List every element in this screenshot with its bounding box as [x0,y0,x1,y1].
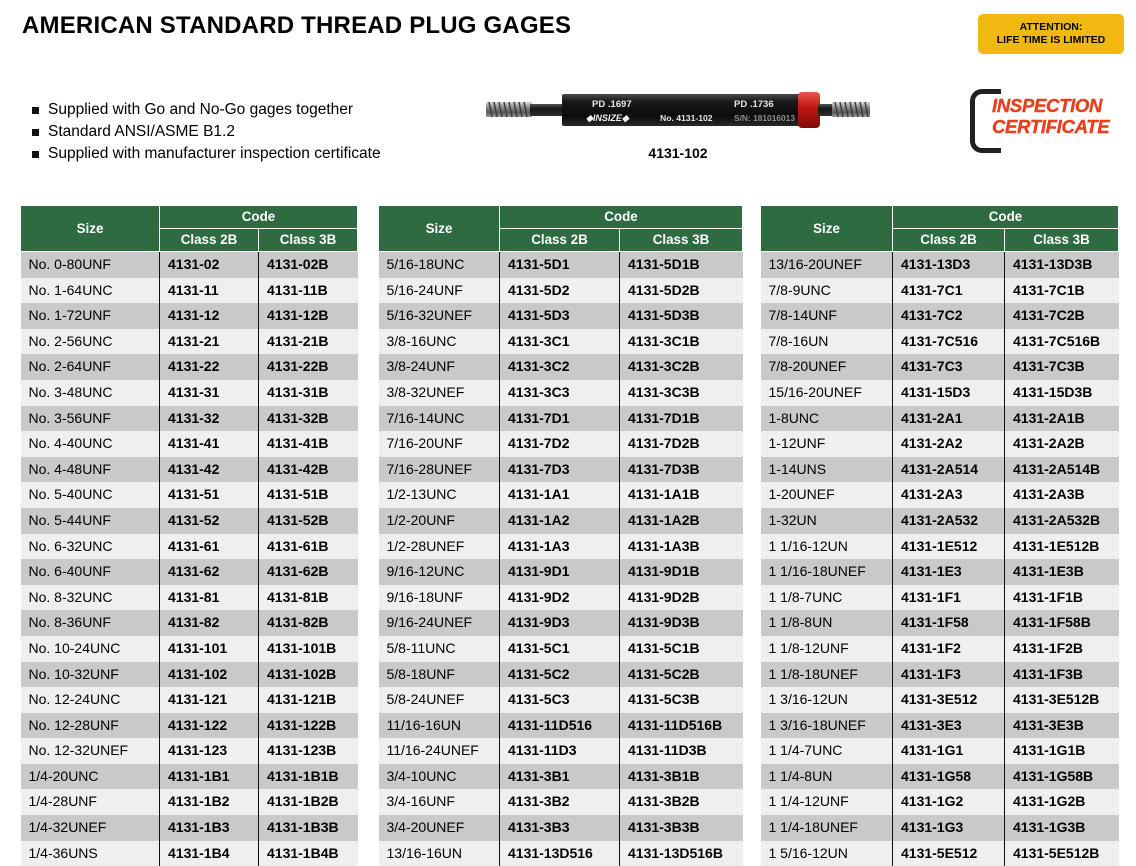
bullet-square-icon [32,151,39,158]
table-row: 1/4-28UNF4131-1B24131-1B2B [21,789,358,815]
cell-size: 7/8-14UNF [761,303,893,329]
col-header-size: Size [379,206,500,252]
cell-class-2b: 4131-5C1 [500,636,620,662]
cell-class-2b: 4131-3C3 [500,380,620,406]
table-row: No. 6-32UNC4131-614131-61B [21,534,358,560]
cell-class-3b: 4131-12B [259,303,358,329]
cell-class-3b: 4131-11D516B [620,713,743,739]
cell-class-3b: 4131-1A1B [620,482,743,508]
table-row: 5/8-18UNF4131-5C24131-5C2B [379,662,743,688]
table-row: No. 1-64UNC4131-114131-11B [21,278,358,304]
product-image: PD .1697 PD .1736 ◆INSIZE◆ No. 4131-102 … [482,78,874,140]
cell-class-3b: 4131-9D2B [620,585,743,611]
col-header-code: Code [500,206,743,229]
table-row: 1-32UN4131-2A5324131-2A532B [761,508,1119,534]
cell-class-2b: 4131-9D1 [500,559,620,585]
cell-class-3b: 4131-5E512B [1005,841,1119,866]
cell-size: 1-32UN [761,508,893,534]
cell-class-2b: 4131-02 [160,252,259,278]
cell-class-3b: 4131-3B2B [620,789,743,815]
cell-size: 1-14UNS [761,457,893,483]
cell-class-2b: 4131-5D1 [500,252,620,278]
cell-class-2b: 4131-52 [160,508,259,534]
cell-class-3b: 4131-2A532B [1005,508,1119,534]
cell-size: No. 2-56UNC [21,329,160,355]
cell-class-3b: 4131-1A3B [620,534,743,560]
cell-class-2b: 4131-1G3 [893,815,1005,841]
table-row: 5/8-11UNC4131-5C14131-5C1B [379,636,743,662]
table-row: 3/8-32UNEF4131-3C34131-3C3B [379,380,743,406]
cell-size: 1/2-28UNEF [379,534,500,560]
cell-class-2b: 4131-51 [160,482,259,508]
cell-class-2b: 4131-7C516 [893,329,1005,355]
cell-class-3b: 4131-7D3B [620,457,743,483]
cell-size: No. 1-72UNF [21,303,160,329]
table-row: 1 1/16-18UNEF4131-1E34131-1E3B [761,559,1119,585]
cell-class-3b: 4131-5C3B [620,687,743,713]
cell-size: 7/8-20UNEF [761,354,893,380]
cell-size: 1/2-20UNF [379,508,500,534]
table-row: 1-14UNS4131-2A5144131-2A514B [761,457,1119,483]
table-row: 1 1/8-8UN4131-1F584131-1F58B [761,610,1119,636]
cell-size: 1/2-13UNC [379,482,500,508]
cell-class-2b: 4131-1G1 [893,738,1005,764]
cell-class-3b: 4131-121B [259,687,358,713]
cell-class-3b: 4131-15D3B [1005,380,1119,406]
table-row: 9/16-12UNC4131-9D14131-9D1B [379,559,743,585]
cell-class-2b: 4131-82 [160,610,259,636]
cell-size: 3/4-16UNF [379,789,500,815]
cell-class-3b: 4131-1B3B [259,815,358,841]
inspection-line-2: CERTIFICATE [992,116,1109,137]
inspection-line-1: INSPECTION [992,95,1109,116]
cell-class-3b: 4131-1B4B [259,841,358,866]
cell-class-2b: 4131-13D516 [500,841,620,866]
bullet-square-icon [32,129,39,136]
cell-class-3b: 4131-11B [259,278,358,304]
cell-class-3b: 4131-5D3B [620,303,743,329]
cell-class-2b: 4131-1G58 [893,764,1005,790]
cell-class-3b: 4131-9D1B [620,559,743,585]
cell-class-3b: 4131-13D516B [620,841,743,866]
cell-size: 1 3/16-18UNEF [761,713,893,739]
cell-class-2b: 4131-1A2 [500,508,620,534]
cell-class-2b: 4131-7C1 [893,278,1005,304]
cell-size: 1 1/8-8UN [761,610,893,636]
cell-class-2b: 4131-2A532 [893,508,1005,534]
cell-size: No. 0-80UNF [21,252,160,278]
cell-class-3b: 4131-3C2B [620,354,743,380]
cell-size: 9/16-18UNF [379,585,500,611]
table-row: 5/16-18UNC4131-5D14131-5D1B [379,252,743,278]
table-row: 9/16-24UNEF4131-9D34131-9D3B [379,610,743,636]
cell-size: 1 1/16-18UNEF [761,559,893,585]
table-row: 1/4-32UNEF4131-1B34131-1B3B [21,815,358,841]
cell-class-3b: 4131-7C1B [1005,278,1119,304]
bullet-square-icon [32,107,39,114]
cell-class-2b: 4131-102 [160,662,259,688]
cell-class-2b: 4131-5C2 [500,662,620,688]
cell-class-2b: 4131-2A3 [893,482,1005,508]
cell-class-2b: 4131-1A3 [500,534,620,560]
cell-class-2b: 4131-123 [160,738,259,764]
col-header-class-2b: Class 2B [893,229,1005,252]
cell-class-2b: 4131-41 [160,431,259,457]
cell-class-3b: 4131-1G1B [1005,738,1119,764]
table-row: 7/16-28UNEF4131-7D34131-7D3B [379,457,743,483]
cell-size: No. 3-48UNC [21,380,160,406]
cell-size: 1 1/8-12UNF [761,636,893,662]
cell-class-2b: 4131-7C3 [893,354,1005,380]
cell-size: 1 3/16-12UN [761,687,893,713]
cell-size: 1-20UNEF [761,482,893,508]
cell-size: 5/8-11UNC [379,636,500,662]
cell-class-3b: 4131-81B [259,585,358,611]
cell-size: No. 8-32UNC [21,585,160,611]
cell-class-2b: 4131-2A1 [893,406,1005,432]
cell-class-3b: 4131-7D2B [620,431,743,457]
table-row: 1 1/16-12UN4131-1E5124131-1E512B [761,534,1119,560]
cell-size: No. 6-32UNC [21,534,160,560]
cell-size: 5/8-24UNEF [379,687,500,713]
cell-class-3b: 4131-123B [259,738,358,764]
cell-class-2b: 4131-3B2 [500,789,620,815]
cell-class-3b: 4131-1F2B [1005,636,1119,662]
cell-class-2b: 4131-7C2 [893,303,1005,329]
page-root: AMERICAN STANDARD THREAD PLUG GAGES Supp… [0,0,1136,846]
cell-class-2b: 4131-42 [160,457,259,483]
table-row: 1/4-20UNC4131-1B14131-1B1B [21,764,358,790]
cell-class-3b: 4131-2A3B [1005,482,1119,508]
cell-size: 1 5/16-12UN [761,841,893,866]
table-row: No. 2-56UNC4131-214131-21B [21,329,358,355]
cell-class-2b: 4131-62 [160,559,259,585]
table-row: 9/16-18UNF4131-9D24131-9D2B [379,585,743,611]
cell-class-2b: 4131-11D3 [500,738,620,764]
table-row: 1/2-28UNEF4131-1A34131-1A3B [379,534,743,560]
cell-class-3b: 4131-1E3B [1005,559,1119,585]
cell-class-2b: 4131-1B2 [160,789,259,815]
cell-class-2b: 4131-7D3 [500,457,620,483]
cell-size: 1/4-28UNF [21,789,160,815]
col-header-code: Code [893,206,1119,229]
cell-class-3b: 4131-2A2B [1005,431,1119,457]
cell-class-2b: 4131-61 [160,534,259,560]
cell-class-2b: 4131-13D3 [893,252,1005,278]
table-row: 5/8-24UNEF4131-5C34131-5C3B [379,687,743,713]
svg-text:No. 4131-102: No. 4131-102 [660,113,713,123]
cell-class-3b: 4131-3B1B [620,764,743,790]
cell-class-2b: 4131-21 [160,329,259,355]
cell-class-2b: 4131-11D516 [500,713,620,739]
cell-class-3b: 4131-1G2B [1005,789,1119,815]
cell-class-3b: 4131-11D3B [620,738,743,764]
cell-size: 7/16-20UNF [379,431,500,457]
svg-text:PD .1697: PD .1697 [592,99,632,110]
cell-class-2b: 4131-5E512 [893,841,1005,866]
cell-class-2b: 4131-9D2 [500,585,620,611]
cell-size: 1 1/8-18UNEF [761,662,893,688]
table-row: 7/16-20UNF4131-7D24131-7D2B [379,431,743,457]
cell-class-3b: 4131-3E3B [1005,713,1119,739]
cell-class-3b: 4131-42B [259,457,358,483]
table-row: No. 5-40UNC4131-514131-51B [21,482,358,508]
cell-class-2b: 4131-12 [160,303,259,329]
col-header-size: Size [761,206,893,252]
cell-class-3b: 4131-122B [259,713,358,739]
table-row: 15/16-20UNEF4131-15D34131-15D3B [761,380,1119,406]
table-row: No. 1-72UNF4131-124131-12B [21,303,358,329]
cell-size: 1 1/4-7UNC [761,738,893,764]
cell-size: No. 1-64UNC [21,278,160,304]
cell-class-3b: 4131-1F1B [1005,585,1119,611]
svg-text:◆INSIZE◆: ◆INSIZE◆ [586,113,630,123]
cell-class-2b: 4131-1B1 [160,764,259,790]
cell-size: No. 2-64UNF [21,354,160,380]
cell-class-3b: 4131-3C1B [620,329,743,355]
cell-size: 3/8-24UNF [379,354,500,380]
cell-size: 1/4-32UNEF [21,815,160,841]
cell-class-2b: 4131-1B4 [160,841,259,866]
cell-size: No. 5-40UNC [21,482,160,508]
col-header-class-2b: Class 2B [500,229,620,252]
cell-class-3b: 4131-02B [259,252,358,278]
cell-class-2b: 4131-7D2 [500,431,620,457]
cell-size: No. 12-32UNEF [21,738,160,764]
table-row: 1 1/4-8UN4131-1G584131-1G58B [761,764,1119,790]
cell-size: 9/16-12UNC [379,559,500,585]
cell-class-3b: 4131-31B [259,380,358,406]
table-row: 1 3/16-12UN4131-3E5124131-3E512B [761,687,1119,713]
table-row: 3/8-16UNC4131-3C14131-3C1B [379,329,743,355]
table-row: No. 0-80UNF4131-024131-02B [21,252,358,278]
table-row: No. 2-64UNF4131-224131-22B [21,354,358,380]
table-row: 1-20UNEF4131-2A34131-2A3B [761,482,1119,508]
cell-size: No. 3-56UNF [21,406,160,432]
cell-size: 3/4-20UNEF [379,815,500,841]
feature-text: Standard ANSI/ASME B1.2 [48,122,235,142]
table-row: No. 10-24UNC4131-1014131-101B [21,636,358,662]
cell-class-2b: 4131-32 [160,406,259,432]
gage-code-table-2: SizeCodeClass 2BClass 3B5/16-18UNC4131-5… [378,205,743,866]
cell-class-3b: 4131-82B [259,610,358,636]
table-row: 7/8-14UNF4131-7C24131-7C2B [761,303,1119,329]
table-row: 1 1/8-12UNF4131-1F24131-1F2B [761,636,1119,662]
table-row: 1-12UNF4131-2A24131-2A2B [761,431,1119,457]
cell-size: No. 4-40UNC [21,431,160,457]
feature-list: Supplied with Go and No-Go gages togethe… [32,100,381,166]
cell-size: No. 10-24UNC [21,636,160,662]
cell-size: 1/4-20UNC [21,764,160,790]
cell-class-3b: 4131-3E512B [1005,687,1119,713]
cell-class-3b: 4131-21B [259,329,358,355]
cell-size: 7/8-9UNC [761,278,893,304]
attention-line-1: ATTENTION: [1020,21,1083,34]
cell-class-3b: 4131-9D3B [620,610,743,636]
cell-class-2b: 4131-31 [160,380,259,406]
table-row: 3/8-24UNF4131-3C24131-3C2B [379,354,743,380]
cell-class-3b: 4131-5C1B [620,636,743,662]
cell-class-3b: 4131-13D3B [1005,252,1119,278]
table-row: No. 3-56UNF4131-324131-32B [21,406,358,432]
cell-class-2b: 4131-9D3 [500,610,620,636]
cell-class-3b: 4131-5C2B [620,662,743,688]
cell-class-3b: 4131-32B [259,406,358,432]
cell-class-3b: 4131-52B [259,508,358,534]
col-header-class-2b: Class 2B [160,229,259,252]
page-title: AMERICAN STANDARD THREAD PLUG GAGES [22,12,571,40]
cell-class-3b: 4131-1F58B [1005,610,1119,636]
cell-class-3b: 4131-41B [259,431,358,457]
cell-class-3b: 4131-102B [259,662,358,688]
cell-class-3b: 4131-3B3B [620,815,743,841]
table-row: No. 3-48UNC4131-314131-31B [21,380,358,406]
table-row: 5/16-24UNF4131-5D24131-5D2B [379,278,743,304]
cell-size: 13/16-16UN [379,841,500,866]
table-row: 1-8UNC4131-2A14131-2A1B [761,406,1119,432]
cell-class-2b: 4131-121 [160,687,259,713]
cell-class-2b: 4131-22 [160,354,259,380]
col-header-size: Size [21,206,160,252]
cell-size: 1/4-36UNS [21,841,160,866]
cell-class-2b: 4131-1A1 [500,482,620,508]
cell-class-2b: 4131-5D3 [500,303,620,329]
cell-class-3b: 4131-1E512B [1005,534,1119,560]
attention-line-2: LIFE TIME IS LIMITED [997,34,1106,47]
cell-size: 5/16-32UNEF [379,303,500,329]
col-header-code: Code [160,206,358,229]
gage-code-table-1: SizeCodeClass 2BClass 3BNo. 0-80UNF4131-… [20,205,358,866]
cell-class-2b: 4131-122 [160,713,259,739]
cell-class-2b: 4131-7D1 [500,406,620,432]
svg-text:PD .1736: PD .1736 [734,99,774,110]
table-row: 7/16-14UNC4131-7D14131-7D1B [379,406,743,432]
cell-size: No. 6-40UNF [21,559,160,585]
table-row: No. 8-32UNC4131-814131-81B [21,585,358,611]
table-row: 7/8-16UN4131-7C5164131-7C516B [761,329,1119,355]
cell-size: 7/16-14UNC [379,406,500,432]
cell-size: 11/16-24UNEF [379,738,500,764]
cell-class-3b: 4131-5D2B [620,278,743,304]
cell-class-2b: 4131-1F3 [893,662,1005,688]
cell-class-2b: 4131-101 [160,636,259,662]
cell-size: No. 4-48UNF [21,457,160,483]
cell-class-3b: 4131-1G58B [1005,764,1119,790]
table-row: 3/4-10UNC4131-3B14131-3B1B [379,764,743,790]
table-row: 13/16-16UN4131-13D5164131-13D516B [379,841,743,866]
table-row: 11/16-24UNEF4131-11D34131-11D3B [379,738,743,764]
cell-class-3b: 4131-7C516B [1005,329,1119,355]
cell-class-2b: 4131-1G2 [893,789,1005,815]
inspection-certificate-text: INSPECTION CERTIFICATE [992,95,1109,137]
cell-class-2b: 4131-3B1 [500,764,620,790]
cell-size: 1 1/4-12UNF [761,789,893,815]
cell-class-3b: 4131-1A2B [620,508,743,534]
table-row: 3/4-20UNEF4131-3B34131-3B3B [379,815,743,841]
cell-class-3b: 4131-7C2B [1005,303,1119,329]
table-row: 11/16-16UN4131-11D5164131-11D516B [379,713,743,739]
cell-size: 5/16-24UNF [379,278,500,304]
cell-size: 3/8-16UNC [379,329,500,355]
cell-size: 15/16-20UNEF [761,380,893,406]
cell-class-2b: 4131-2A514 [893,457,1005,483]
cell-class-2b: 4131-2A2 [893,431,1005,457]
cell-size: 1-12UNF [761,431,893,457]
table-row: 1 1/8-7UNC4131-1F14131-1F1B [761,585,1119,611]
cell-class-3b: 4131-7D1B [620,406,743,432]
cell-class-2b: 4131-5D2 [500,278,620,304]
cell-class-2b: 4131-11 [160,278,259,304]
product-code-label: 4131-102 [482,145,874,161]
cell-class-3b: 4131-1G3B [1005,815,1119,841]
cell-size: No. 10-32UNF [21,662,160,688]
list-item: Supplied with Go and No-Go gages togethe… [32,100,381,120]
cell-class-3b: 4131-61B [259,534,358,560]
cell-class-2b: 4131-1B3 [160,815,259,841]
cell-size: 1 1/4-8UN [761,764,893,790]
cell-size: 5/8-18UNF [379,662,500,688]
table-row: 1 1/4-18UNEF4131-1G34131-1G3B [761,815,1119,841]
inspection-certificate-badge: INSPECTION CERTIFICATE [970,85,1130,147]
cell-class-3b: 4131-101B [259,636,358,662]
cell-class-2b: 4131-1F1 [893,585,1005,611]
cell-class-3b: 4131-22B [259,354,358,380]
cell-size: 1-8UNC [761,406,893,432]
table-row: No. 6-40UNF4131-624131-62B [21,559,358,585]
cell-class-2b: 4131-3C1 [500,329,620,355]
cell-class-3b: 4131-1F3B [1005,662,1119,688]
cell-size: 13/16-20UNEF [761,252,893,278]
cell-class-3b: 4131-3C3B [620,380,743,406]
cell-size: 1 1/4-18UNEF [761,815,893,841]
cell-class-3b: 4131-51B [259,482,358,508]
cell-class-2b: 4131-1E3 [893,559,1005,585]
cell-class-2b: 4131-5C3 [500,687,620,713]
table-row: 7/8-9UNC4131-7C14131-7C1B [761,278,1119,304]
table-row: 1 3/16-18UNEF4131-3E34131-3E3B [761,713,1119,739]
cell-size: No. 8-36UNF [21,610,160,636]
svg-text:S/N: 181016013: S/N: 181016013 [734,113,795,123]
cell-size: 5/16-18UNC [379,252,500,278]
col-header-class-3b: Class 3B [259,229,358,252]
feature-text: Supplied with manufacturer inspection ce… [48,144,381,164]
table-row: 1 5/16-12UN4131-5E5124131-5E512B [761,841,1119,866]
cell-class-2b: 4131-3E512 [893,687,1005,713]
cell-class-3b: 4131-62B [259,559,358,585]
feature-text: Supplied with Go and No-Go gages togethe… [48,100,353,120]
table-row: No. 12-28UNF4131-1224131-122B [21,713,358,739]
cell-size: 9/16-24UNEF [379,610,500,636]
cell-class-2b: 4131-1F2 [893,636,1005,662]
cell-class-3b: 4131-7C3B [1005,354,1119,380]
cell-class-3b: 4131-2A1B [1005,406,1119,432]
cell-class-2b: 4131-81 [160,585,259,611]
table-row: 1 1/4-12UNF4131-1G24131-1G2B [761,789,1119,815]
cell-class-2b: 4131-15D3 [893,380,1005,406]
table-row: 1/4-36UNS4131-1B44131-1B4B [21,841,358,866]
cell-class-3b: 4131-1B2B [259,789,358,815]
cell-size: No. 12-24UNC [21,687,160,713]
cell-class-3b: 4131-5D1B [620,252,743,278]
cell-class-2b: 4131-3E3 [893,713,1005,739]
table-row: No. 4-40UNC4131-414131-41B [21,431,358,457]
col-header-class-3b: Class 3B [620,229,743,252]
table-row: 1 1/8-18UNEF4131-1F34131-1F3B [761,662,1119,688]
cell-size: 3/4-10UNC [379,764,500,790]
list-item: Standard ANSI/ASME B1.2 [32,122,381,142]
list-item: Supplied with manufacturer inspection ce… [32,144,381,164]
table-row: No. 12-24UNC4131-1214131-121B [21,687,358,713]
